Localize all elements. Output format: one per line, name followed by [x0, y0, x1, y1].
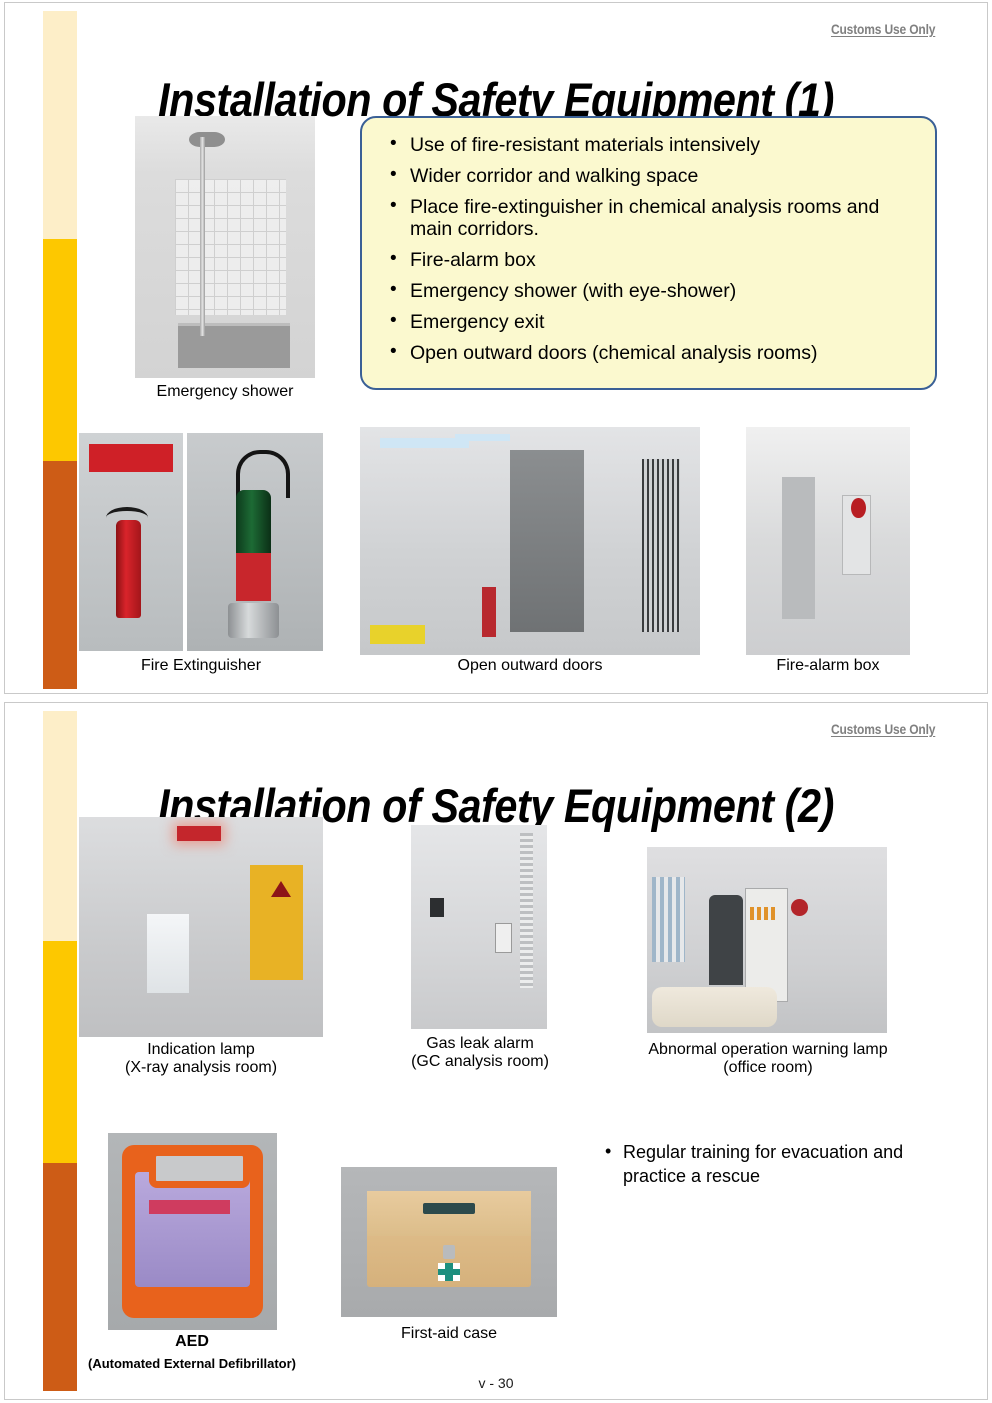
co2-label — [236, 553, 271, 601]
corridor-extinguisher — [482, 587, 496, 637]
shower-tile-wall — [175, 179, 287, 315]
shower-pan — [178, 323, 290, 368]
aed-cover-window — [135, 1172, 250, 1286]
ceiling-light-2 — [455, 434, 509, 441]
caption-aed: AED — [85, 1333, 299, 1351]
gas-room-curtain — [520, 833, 534, 988]
alarm-lamp — [851, 498, 866, 519]
first-aid-box-lid — [367, 1191, 531, 1236]
customs-use-only-stamp: Customs Use Only — [831, 21, 935, 37]
co2-base — [228, 603, 280, 638]
caption-indication-lamp: Indication lamp (X-ray analysis room) — [59, 1041, 343, 1078]
first-aid-box-latch — [443, 1245, 456, 1259]
list-item: Place fire-extinguisher in chemical anal… — [388, 196, 913, 242]
sidebar-band-orange — [43, 461, 77, 689]
warning-lamp-leds — [750, 907, 776, 920]
list-item: Use of fire-resistant materials intensiv… — [388, 134, 913, 157]
caption-gas-leak-alarm: Gas leak alarm (GC analysis room) — [389, 1035, 571, 1072]
gas-detector-panel — [495, 923, 512, 954]
training-note-items: Regular training for evacuation and prac… — [605, 1140, 935, 1189]
office-coat — [709, 895, 743, 984]
caption-fire-alarm-box: Fire-alarm box — [726, 657, 930, 675]
photo-open-outward-doors — [360, 427, 700, 655]
photo-aed — [108, 1133, 277, 1330]
office-bookshelf — [652, 877, 686, 963]
corridor-yellow-item — [370, 625, 424, 643]
photo-co2-extinguisher — [187, 433, 323, 651]
caption-open-outward-doors: Open outward doors — [360, 657, 700, 675]
slide-1: Customs Use Only Installation of Safety … — [4, 2, 988, 694]
photo-emergency-shower — [135, 116, 315, 378]
first-aid-box-handle — [423, 1203, 475, 1214]
photo-fire-alarm-box — [746, 427, 910, 655]
safety-measures-list: Use of fire-resistant materials intensiv… — [388, 134, 913, 365]
corridor-door — [510, 450, 585, 632]
list-item: Fire-alarm box — [388, 249, 913, 272]
list-item: Wider corridor and walking space — [388, 165, 913, 188]
training-note-list: Regular training for evacuation and prac… — [605, 1140, 935, 1189]
aed-brand-label — [149, 1200, 230, 1214]
photo-indication-lamp — [79, 817, 323, 1037]
alarm-room-door — [782, 477, 815, 618]
caption-aed-expansion: (Automated External Defibrillator) — [65, 1357, 319, 1372]
photo-gas-leak-alarm — [411, 825, 547, 1029]
slide-2: Customs Use Only Installation of Safety … — [4, 702, 988, 1400]
photo-abnormal-operation-warning-lamp — [647, 847, 887, 1033]
extinguisher-sign — [89, 444, 172, 472]
photo-first-aid-case — [341, 1167, 557, 1317]
caption-fire-extinguisher: Fire Extinguisher — [69, 657, 333, 675]
photo-fire-extinguisher-cabinet — [79, 433, 183, 651]
safety-measures-callout: Use of fire-resistant materials intensiv… — [360, 116, 937, 390]
caption-first-aid-case: First-aid case — [339, 1325, 559, 1343]
customs-use-only-stamp: Customs Use Only — [831, 721, 935, 737]
caption-emergency-shower: Emergency shower — [115, 383, 335, 401]
lit-doorway — [147, 914, 188, 993]
office-sofa — [652, 987, 777, 1028]
exit-indication-lamp — [177, 826, 221, 841]
list-item: Emergency shower (with eye-shower) — [388, 280, 913, 303]
first-aid-cross-icon — [438, 1263, 460, 1281]
caption-abnormal-operation-warning-lamp: Abnormal operation warning lamp (office … — [605, 1041, 931, 1078]
sidebar-band-cream — [43, 11, 77, 239]
gas-wall-label — [430, 898, 444, 916]
warning-lamp-red-button — [791, 899, 808, 916]
page-number: v - 30 — [5, 1375, 987, 1391]
list-item: Emergency exit — [388, 311, 913, 334]
corridor-grille — [642, 459, 679, 632]
list-item: Regular training for evacuation and prac… — [605, 1140, 935, 1189]
extinguisher-body — [116, 520, 141, 618]
sidebar-band-yellow — [43, 239, 77, 461]
list-item: Open outward doors (chemical analysis ro… — [388, 342, 913, 365]
aed-handle — [149, 1149, 251, 1189]
radiation-trefoil-icon — [271, 881, 291, 897]
warning-lamp-panel — [745, 888, 788, 1002]
